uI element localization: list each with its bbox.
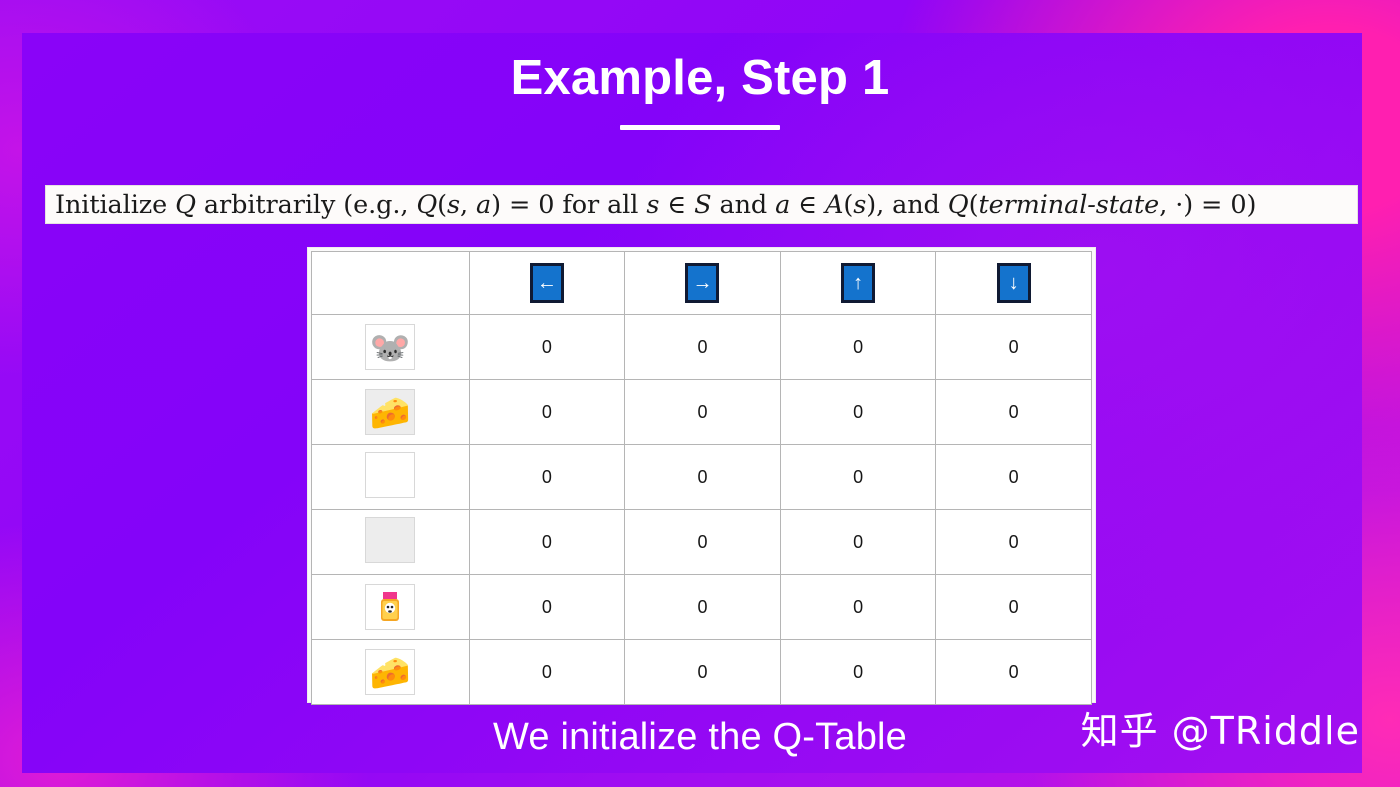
state-cell: 🐭 [312,315,470,380]
q-value-cell: 0 [780,575,936,640]
table-row: 0 0 0 0 [312,445,1092,510]
state-cell: 🧀 [312,380,470,445]
formula-part-1: Initialize [55,190,175,220]
action-column-header-right: → [625,252,781,315]
q-table: ← → ↑ ↓ 🐭 [311,251,1092,705]
q-value-cell: 0 [625,510,781,575]
slide-canvas: Example, Step 1 Initialize Q arbitrarily… [0,0,1400,787]
arrow-up-icon[interactable]: ↑ [841,263,875,303]
q-value-cell: 0 [936,640,1092,705]
q-value-cell: 0 [936,510,1092,575]
state-cell [312,445,470,510]
formula-symbol-script-s: S [694,190,711,220]
table-row: 0 0 0 0 [312,510,1092,575]
formula-part-2: arbitrarily (e.g., [196,190,416,220]
formula-symbol-terminal-state: terminal-state [978,190,1159,220]
q-value-cell: 0 [780,315,936,380]
empty-white-icon [365,452,415,498]
formula-part-3: ( [437,190,447,220]
state-cell: 🧀 [312,640,470,705]
q-value-cell: 0 [780,510,936,575]
q-value-cell: 0 [469,445,625,510]
formula-part-12: , ·) = 0) [1159,190,1256,220]
q-value-cell: 0 [469,575,625,640]
formula-symbol-script-a: A [825,190,843,220]
q-value-cell: 0 [469,380,625,445]
q-value-cell: 0 [625,380,781,445]
q-table-header-row: ← → ↑ ↓ [312,252,1092,315]
q-value-cell: 0 [936,315,1092,380]
title-underline-rule [620,125,780,130]
q-value-cell: 0 [936,575,1092,640]
action-column-header-up: ↑ [780,252,936,315]
state-cell [312,575,470,640]
formula-part-7: and [711,190,775,220]
formula-symbol-a1: a [476,190,491,220]
mouse-icon: 🐭 [365,324,415,370]
action-column-header-down: ↓ [936,252,1092,315]
formula-part-4: , [460,190,476,220]
poison-jar-glyph [375,590,405,624]
q-value-cell: 0 [469,510,625,575]
formula-part-5: ) = 0 for all [491,190,646,220]
formula-symbol-q2: Q [416,190,437,220]
q-value-cell: 0 [780,380,936,445]
q-value-cell: 0 [936,380,1092,445]
formula-symbol-q1: Q [175,190,196,220]
title-block: Example, Step 1 [0,52,1400,130]
q-table-container: ← → ↑ ↓ 🐭 [307,247,1096,703]
q-value-cell: 0 [625,575,781,640]
table-row: 🧀 0 0 0 0 [312,380,1092,445]
formula-part-9: ( [843,190,853,220]
cheese-big-icon: 🧀 [365,649,415,695]
empty-gray-icon [365,517,415,563]
state-column-header [312,252,470,315]
formula-symbol-a2: a [775,190,790,220]
q-value-cell: 0 [780,640,936,705]
q-value-cell: 0 [625,445,781,510]
page-title: Example, Step 1 [0,52,1400,106]
q-value-cell: 0 [469,640,625,705]
arrow-right-icon[interactable]: → [685,263,719,303]
q-value-cell: 0 [936,445,1092,510]
formula-symbol-s2: s [646,190,659,220]
q-value-cell: 0 [625,640,781,705]
formula-part-6: ∈ [659,190,694,220]
table-row: 🐭 0 0 0 0 [312,315,1092,380]
formula-part-10: ), and [866,190,948,220]
table-row: 🧀 0 0 0 0 [312,640,1092,705]
watermark: 知乎 @TRiddle [1081,700,1360,755]
table-row: 0 0 0 0 [312,575,1092,640]
formula-part-11: ( [969,190,979,220]
action-column-header-left: ← [469,252,625,315]
formula-symbol-q3: Q [948,190,969,220]
formula-symbol-s1: s [447,190,460,220]
formula-symbol-s3: s [853,190,866,220]
q-value-cell: 0 [780,445,936,510]
q-value-cell: 0 [469,315,625,380]
state-cell [312,510,470,575]
formula-text: Initialize Q arbitrarily (e.g., Q(s, a) … [55,190,1256,220]
cheese-small-icon: 🧀 [365,389,415,435]
arrow-down-icon[interactable]: ↓ [997,263,1031,303]
q-value-cell: 0 [625,315,781,380]
arrow-left-icon[interactable]: ← [530,263,564,303]
formula-strip: Initialize Q arbitrarily (e.g., Q(s, a) … [45,185,1358,224]
formula-part-8: ∈ [790,190,825,220]
poison-jar-icon [365,584,415,630]
